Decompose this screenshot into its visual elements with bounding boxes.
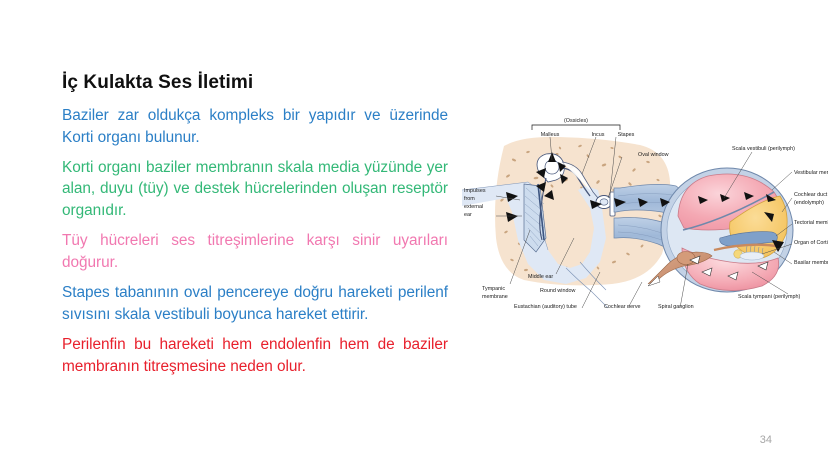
label-tectorial-membrane: Tectorial membrane — [794, 220, 828, 226]
label-impulses-line1: Impulses — [464, 188, 486, 194]
label-basilar-membrane: Basilar membrane — [794, 260, 828, 266]
paragraph-1: Baziler zar oldukça kompleks bir yapıdır… — [62, 105, 448, 149]
label-ossicles: (Ossicles) — [564, 118, 588, 124]
label-incus: Incus — [592, 132, 605, 138]
label-tympanic-line1: Tympanic — [482, 286, 505, 292]
label-oval-window: Oval window — [638, 152, 669, 158]
label-organ-of-corti: Organ of Corti — [794, 240, 828, 246]
ossicles-bracket — [532, 125, 620, 130]
label-impulses-line4: ear — [464, 212, 472, 218]
label-spiral-ganglion: Spiral ganglion — [658, 304, 694, 310]
label-scala-tympani: Scala tympani (perilymph) — [738, 294, 801, 300]
label-malleus: Malleus — [541, 132, 560, 138]
label-cochlear-duct-line2: (endolymph) — [794, 200, 824, 206]
label-stapes: Stapes — [618, 132, 635, 138]
label-scala-vestibuli: Scala vestibuli (perilymph) — [732, 146, 795, 152]
label-round-window: Round window — [540, 288, 575, 294]
label-cochlear-nerve: Cochlear nerve — [604, 304, 641, 310]
label-impulses-line3: external — [464, 204, 483, 210]
inner-ear-diagram: (Ossicles) Malleus Incus Stapes Oval win… — [462, 112, 828, 330]
paragraph-4: Stapes tabanının oval pencereye doğru ha… — [62, 282, 448, 326]
label-middle-ear: Middle ear — [528, 274, 553, 280]
page-number: 34 — [760, 434, 772, 446]
page-title: İç Kulakta Ses İletimi — [62, 72, 448, 95]
text-content-column: İç Kulakta Ses İletimi Baziler zar olduk… — [62, 72, 448, 377]
label-tympanic-line2: membrane — [482, 294, 508, 300]
paragraph-3: Tüy hücreleri ses titreşimlerine karşı s… — [62, 230, 448, 274]
paragraph-2: Korti organı baziler membranın skala med… — [62, 157, 448, 223]
label-vestibular-membrane: Vestibular membrane — [794, 170, 828, 176]
inner-ear-diagram-svg: (Ossicles) Malleus Incus Stapes Oval win… — [462, 112, 828, 330]
slide-canvas: İç Kulakta Ses İletimi Baziler zar olduk… — [0, 0, 828, 466]
label-cochlear-duct-line1: Cochlear duct — [794, 192, 828, 198]
paragraph-5: Perilenfin bu hareketi hem endolenfin he… — [62, 334, 448, 378]
label-impulses-line2: from — [464, 196, 475, 202]
label-eustachian-tube: Eustachian (auditory) tube — [514, 304, 577, 310]
